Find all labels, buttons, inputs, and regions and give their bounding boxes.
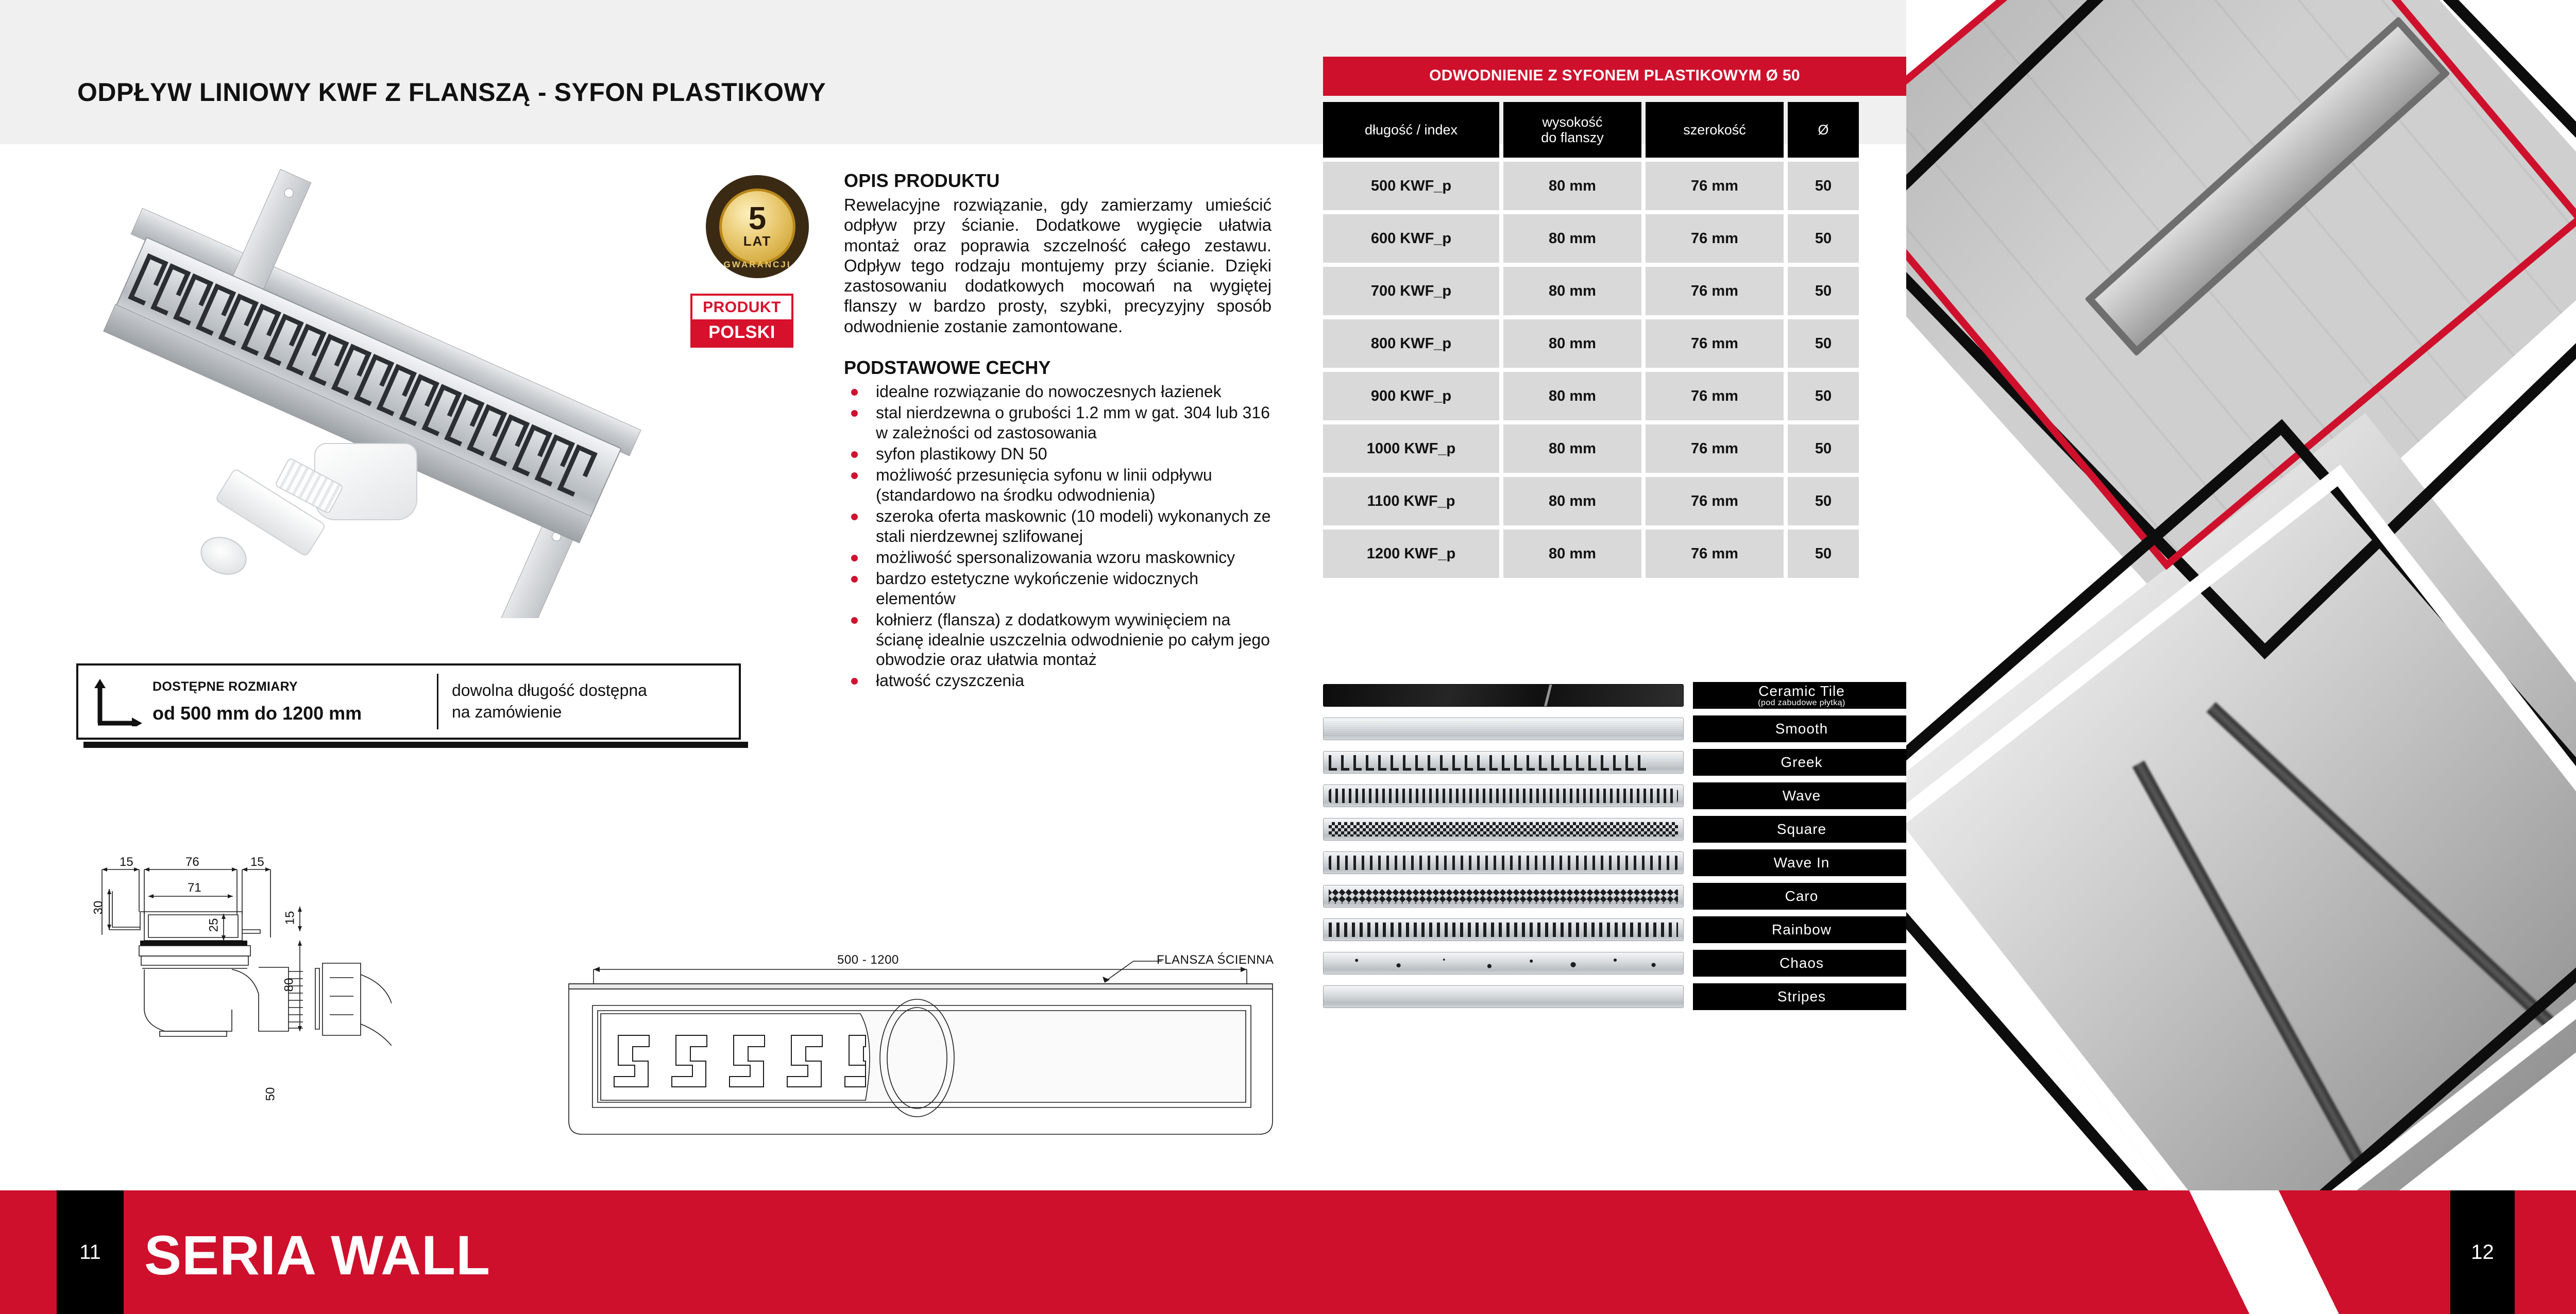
greek-key-glyph	[1353, 755, 1362, 771]
spec-cell-width: 76 mm	[1646, 530, 1784, 578]
pattern-label[interactable]: Wave	[1693, 782, 1910, 809]
technical-drawing-top-view: 500 - 1200 FLANSZA ŚCIENNA	[556, 932, 1324, 1154]
pattern-name: Ceramic Tile	[1758, 683, 1845, 699]
pattern-inner	[1329, 789, 1678, 803]
spec-table-row: 1200 KWF_p80 mm76 mm50	[1323, 530, 1906, 578]
pattern-name: Greek	[1781, 754, 1822, 771]
sizes-text-group: DOSTĘPNE ROZMIARY od 500 mm do 1200 mm	[148, 679, 437, 724]
dim-80: 80	[282, 978, 296, 992]
pattern-fill	[1329, 923, 1678, 937]
pattern-preview-stripes	[1323, 985, 1684, 1008]
spec-cell-height: 80 mm	[1503, 372, 1641, 420]
pattern-label[interactable]: Wave In	[1693, 849, 1910, 876]
pattern-row[interactable]: Caro	[1323, 882, 1910, 911]
greek-key-glyph	[1415, 755, 1423, 771]
feature-item: możliwość spersonalizowania wzoru maskow…	[844, 548, 1272, 567]
spec-cell-height: 80 mm	[1503, 530, 1641, 578]
feature-item: szeroka oferta maskownic (10 modeli) wyk…	[844, 506, 1272, 546]
greek-key-glyph	[1564, 755, 1572, 771]
text-column: OPIS PRODUKTU Rewelacyjne rozwiązanie, g…	[844, 170, 1272, 692]
spec-cell-width: 76 mm	[1646, 319, 1784, 368]
description-body: Rewelacyjne rozwiązanie, gdy zamierzamy …	[844, 195, 1272, 336]
features-list: idealne rozwiązanie do nowoczesnych łazi…	[844, 382, 1272, 691]
spec-table-row: 600 KWF_p80 mm76 mm50	[1323, 214, 1906, 263]
pattern-name: Stripes	[1777, 988, 1826, 1005]
sizes-label: DOSTĘPNE ROZMIARY	[152, 679, 437, 694]
pattern-inner	[1329, 923, 1678, 937]
pattern-label[interactable]: Smooth	[1693, 715, 1910, 742]
greek-key-glyph	[1341, 755, 1349, 771]
spec-cell-dia: 50	[1788, 162, 1859, 210]
spec-cell-height: 80 mm	[1503, 319, 1641, 368]
column-header-diameter: Ø	[1788, 102, 1859, 158]
dim-15-left: 15	[120, 855, 133, 869]
photo-collage	[1906, 0, 2576, 1314]
pattern-name: Square	[1777, 821, 1826, 838]
pattern-name: Wave In	[1774, 855, 1830, 871]
spec-table-body: 500 KWF_p80 mm76 mm50600 KWF_p80 mm76 mm…	[1323, 162, 1906, 582]
pattern-preview-rainbow	[1323, 918, 1684, 941]
pattern-preview-wave	[1323, 784, 1684, 807]
feature-item: kołnierz (flansza) z dodatkowym wywinięc…	[844, 610, 1272, 669]
feature-item: stal nierdzewna o grubości 1.2 mm w gat.…	[844, 403, 1272, 442]
warranty-years-unit: LAT	[743, 233, 772, 249]
pattern-inner	[1329, 956, 1678, 970]
pattern-inner	[1329, 856, 1678, 870]
pattern-preview-tile	[1323, 684, 1684, 707]
pattern-row[interactable]: Chaos	[1323, 949, 1910, 978]
badge-stack: 5 LAT GWARANCJI PRODUKT POLSKI	[690, 175, 824, 348]
spec-table-row: 900 KWF_p80 mm76 mm50	[1323, 372, 1906, 420]
greek-key-glyph	[1625, 755, 1634, 771]
pattern-row[interactable]: Stripes	[1323, 982, 1910, 1011]
greek-key-glyph	[1527, 755, 1535, 771]
spec-table: ODWODNIENIE Z SYFONEM PLASTIKOWYM Ø 50 d…	[1323, 57, 1906, 582]
flange-callout-label: FLANSZA ŚCIENNA	[1157, 953, 1274, 967]
spec-table-row: 700 KWF_p80 mm76 mm50	[1323, 267, 1906, 315]
pattern-inner	[1329, 755, 1678, 770]
greek-key-glyph	[1638, 755, 1646, 771]
pattern-label[interactable]: Ceramic Tile(pod zabudowe płytką)	[1693, 682, 1910, 709]
pattern-name: Caro	[1785, 888, 1819, 905]
features-title: PODSTAWOWE CECHY	[844, 357, 1272, 379]
pattern-preview-greek	[1323, 751, 1684, 774]
description-title: OPIS PRODUKTU	[844, 170, 1272, 192]
greek-key-glyph	[1601, 755, 1609, 771]
pattern-fill	[1329, 889, 1678, 903]
length-dimension-label: 500 - 1200	[837, 953, 899, 967]
spec-cell-index: 1100 KWF_p	[1323, 477, 1499, 525]
greek-key-glyph	[1378, 755, 1386, 771]
greek-key-glyph	[1428, 755, 1436, 771]
pattern-preview-caro	[1323, 885, 1684, 908]
spec-cell-dia: 50	[1788, 477, 1859, 525]
page-title: ODPŁYW LINIOWY KWF Z FLANSZĄ - SYFON PLA…	[77, 77, 826, 107]
pattern-row[interactable]: Rainbow	[1323, 915, 1910, 944]
pattern-row[interactable]: Smooth	[1323, 714, 1910, 743]
pattern-name: Rainbow	[1772, 921, 1832, 938]
spec-cell-dia: 50	[1788, 530, 1859, 578]
pattern-label[interactable]: Rainbow	[1693, 916, 1910, 943]
greek-key-glyph	[1465, 755, 1473, 771]
pattern-preview-wavein	[1323, 851, 1684, 874]
pattern-label[interactable]: Square	[1693, 816, 1910, 843]
greek-key-glyph	[1588, 755, 1597, 771]
pattern-fill	[1329, 856, 1678, 870]
pattern-preview-chaos	[1323, 952, 1684, 975]
spec-table-row: 1100 KWF_p80 mm76 mm50	[1323, 477, 1906, 525]
dim-30: 30	[91, 901, 106, 915]
dim-76: 76	[185, 855, 199, 869]
spec-table-row: 500 KWF_p80 mm76 mm50	[1323, 162, 1906, 210]
warranty-years-number: 5	[749, 204, 766, 233]
pattern-label[interactable]: Caro	[1693, 883, 1910, 910]
technical-drawing-cross-section: 15 76 15 71 30 25 15 80 50	[62, 840, 392, 1159]
spec-cell-dia: 50	[1788, 214, 1859, 263]
feature-item: łatwość czyszczenia	[844, 671, 1272, 690]
pattern-row[interactable]: Square	[1323, 815, 1910, 844]
spec-cell-index: 900 KWF_p	[1323, 372, 1499, 420]
greek-key-glyph	[1403, 755, 1411, 771]
warranty-seal-icon: 5 LAT GWARANCJI	[706, 175, 809, 278]
origin-badge-line1: PRODUKT	[692, 296, 791, 319]
spec-cell-dia: 50	[1788, 372, 1859, 420]
pattern-fill	[1329, 789, 1678, 803]
spec-table-row: 1000 KWF_p80 mm76 mm50	[1323, 424, 1906, 473]
column-header-height: wysokość do flanszy	[1503, 102, 1641, 158]
spec-cell-width: 76 mm	[1646, 162, 1784, 210]
pattern-preview-smooth	[1323, 718, 1684, 740]
pattern-label[interactable]: Greek	[1693, 749, 1910, 776]
pattern-preview-square	[1323, 818, 1684, 841]
page-number-left: 11	[57, 1190, 124, 1314]
spec-cell-height: 80 mm	[1503, 477, 1641, 525]
spec-cell-width: 76 mm	[1646, 267, 1784, 315]
sizes-note-line2: na zamówienie	[452, 703, 562, 721]
pattern-label[interactable]: Stripes	[1693, 983, 1910, 1010]
column-header-height-line2: do flanszy	[1541, 130, 1604, 145]
pattern-name: Chaos	[1780, 955, 1824, 971]
greek-key-glyph	[1613, 755, 1621, 771]
grate-pattern-list: Ceramic Tile(pod zabudowe płytką)SmoothG…	[1323, 681, 1910, 1016]
dim-15-right: 15	[250, 855, 264, 869]
spec-cell-index: 500 KWF_p	[1323, 162, 1499, 210]
pattern-row[interactable]: Ceramic Tile(pod zabudowe płytką)	[1323, 681, 1910, 710]
pattern-inner	[1329, 822, 1678, 837]
greek-key-glyph	[1452, 755, 1461, 771]
warranty-seal-inner: 5 LAT	[719, 189, 795, 265]
product-origin-badge: PRODUKT POLSKI	[690, 294, 793, 348]
linear-drain-illustration	[77, 227, 637, 618]
pattern-row[interactable]: Wave	[1323, 781, 1910, 810]
pattern-inner	[1329, 889, 1678, 903]
spec-cell-width: 76 mm	[1646, 424, 1784, 473]
pattern-fill	[1329, 822, 1678, 837]
sizes-note-line1: dowolna długość dostępna	[452, 681, 647, 699]
spec-cell-index: 1200 KWF_p	[1323, 530, 1499, 578]
dim-15-height: 15	[283, 911, 297, 925]
dim-50: 50	[263, 1087, 278, 1101]
series-title: SERIA WALL	[144, 1223, 490, 1287]
column-header-height-line1: wysokość	[1542, 114, 1602, 130]
spec-cell-dia: 50	[1788, 319, 1859, 368]
spec-cell-index: 800 KWF_p	[1323, 319, 1499, 368]
product-photo	[77, 155, 742, 618]
greek-key-glyph	[1514, 755, 1522, 771]
warranty-arc-label: GWARANCJI	[706, 260, 809, 270]
pattern-sublabel: (pod zabudowe płytką)	[1758, 698, 1845, 708]
pattern-name: Wave	[1783, 788, 1821, 804]
pattern-label[interactable]: Chaos	[1693, 950, 1910, 977]
spec-cell-height: 80 mm	[1503, 162, 1641, 210]
feature-item: syfon plastikowy DN 50	[844, 444, 1272, 464]
footer-bar: 11 SERIA WALL 12	[0, 1190, 2576, 1314]
feature-item: bardzo estetyczne wykończenie widocznych…	[844, 569, 1272, 608]
pattern-row[interactable]: Greek	[1323, 748, 1910, 777]
spec-cell-dia: 50	[1788, 424, 1859, 473]
spec-cell-width: 76 mm	[1646, 477, 1784, 525]
greek-key-glyph	[1576, 755, 1584, 771]
spec-table-grid: długość / index wysokość do flanszy szer…	[1323, 102, 1906, 582]
greek-key-glyph	[1440, 755, 1448, 771]
pattern-row[interactable]: Wave In	[1323, 848, 1910, 877]
spec-cell-dia: 50	[1788, 267, 1859, 315]
spec-table-caption: ODWODNIENIE Z SYFONEM PLASTIKOWYM Ø 50	[1323, 57, 1906, 96]
dim-25: 25	[207, 918, 221, 932]
spec-cell-index: 1000 KWF_p	[1323, 424, 1499, 473]
sizes-range: od 500 mm do 1200 mm	[152, 703, 437, 724]
dim-71: 71	[188, 881, 201, 895]
spec-cell-index: 600 KWF_p	[1323, 214, 1499, 263]
feature-item: możliwość przesunięcia syfonu w linii od…	[844, 465, 1272, 505]
spec-table-header-row: długość / index wysokość do flanszy szer…	[1323, 102, 1906, 158]
greek-key-glyph	[1539, 755, 1547, 771]
spec-cell-width: 76 mm	[1646, 372, 1784, 420]
pattern-name: Smooth	[1775, 721, 1828, 737]
sizes-note: dowolna długość dostępna na zamówienie	[438, 680, 647, 723]
column-header-width: szerokość	[1646, 102, 1784, 158]
greek-key-glyph	[1391, 755, 1399, 771]
pattern-inner	[1329, 989, 1678, 1004]
page-number-right: 12	[2450, 1190, 2515, 1314]
bracket-hole-icon	[283, 187, 295, 199]
greek-key-glyph	[1329, 755, 1337, 771]
available-sizes-box: DOSTĘPNE ROZMIARY od 500 mm do 1200 mm d…	[76, 663, 741, 740]
greek-key-glyph	[1477, 755, 1485, 771]
column-header-length: długość / index	[1323, 102, 1499, 158]
spec-cell-height: 80 mm	[1503, 267, 1641, 315]
spec-cell-height: 80 mm	[1503, 424, 1641, 473]
feature-item: idealne rozwiązanie do nowoczesnych łazi…	[844, 382, 1272, 401]
spec-cell-index: 700 KWF_p	[1323, 267, 1499, 315]
greek-key-glyph	[1489, 755, 1498, 771]
spec-cell-height: 80 mm	[1503, 214, 1641, 263]
greek-key-glyph	[1366, 755, 1374, 771]
dimension-arrow-icon	[92, 677, 148, 726]
spec-cell-width: 76 mm	[1646, 214, 1784, 263]
greek-key-glyph	[1551, 755, 1560, 771]
greek-key-glyph	[1502, 755, 1510, 771]
origin-badge-line2: POLSKI	[692, 319, 791, 346]
spec-table-row: 800 KWF_p80 mm76 mm50	[1323, 319, 1906, 368]
pattern-fill	[1329, 956, 1678, 970]
